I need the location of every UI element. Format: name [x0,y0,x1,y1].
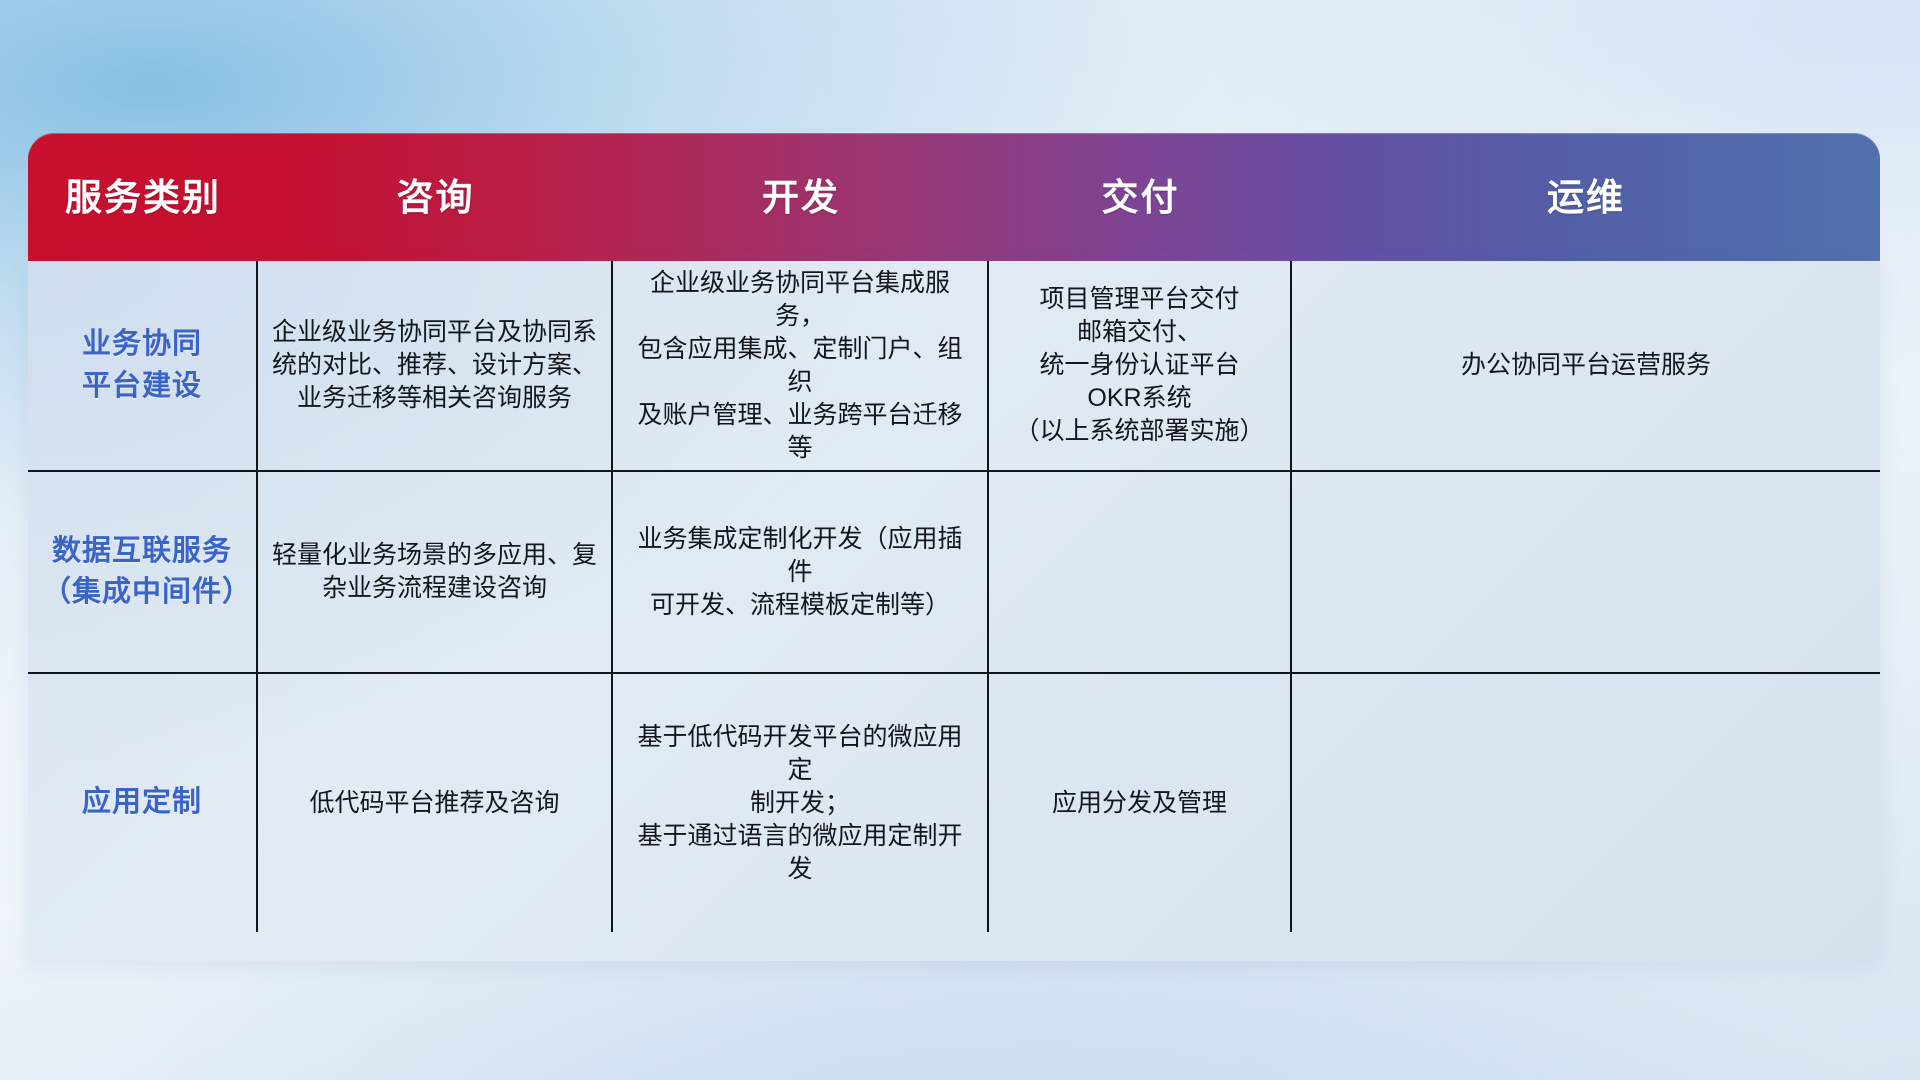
table-row: 业务协同 平台建设 企业级业务协同平台及协同系 统的对比、推荐、设计方案、 业务… [28,261,1880,472]
table-body: 业务协同 平台建设 企业级业务协同平台及协同系 统的对比、推荐、设计方案、 业务… [28,261,1880,961]
cell-development: 业务集成定制化开发（应用插件 可开发、流程模板定制等） [613,472,989,672]
slide-canvas: 服务类别 咨询 开发 交付 运维 业务协同 平台建设 企业级业务协同平台及协同系… [0,0,1920,1080]
table-header-row: 服务类别 咨询 开发 交付 运维 [28,133,1880,261]
cell-operations [1292,472,1880,672]
cell-delivery: 项目管理平台交付 邮箱交付、 统一身份认证平台 OKR系统 （以上系统部署实施） [989,261,1292,470]
cell-category: 应用定制 [28,674,258,932]
cell-delivery [989,472,1292,672]
cell-category: 业务协同 平台建设 [28,261,258,470]
column-header-delivery: 交付 [989,179,1292,216]
cell-operations: 办公协同平台运营服务 [1292,261,1880,470]
column-header-category: 服务类别 [28,179,258,216]
service-matrix-table: 服务类别 咨询 开发 交付 运维 业务协同 平台建设 企业级业务协同平台及协同系… [28,133,1880,961]
cell-consulting: 低代码平台推荐及咨询 [258,674,613,932]
column-header-consulting: 咨询 [258,179,613,216]
cell-consulting: 轻量化业务场景的多应用、复 杂业务流程建设咨询 [258,472,613,672]
cell-category: 数据互联服务 （集成中间件） [28,472,258,672]
table-row: 数据互联服务 （集成中间件） 轻量化业务场景的多应用、复 杂业务流程建设咨询 业… [28,472,1880,674]
cell-development: 基于低代码开发平台的微应用定 制开发； 基于通过语言的微应用定制开发 [613,674,989,932]
cell-delivery: 应用分发及管理 [989,674,1292,932]
column-header-operations: 运维 [1292,179,1880,216]
column-header-development: 开发 [613,179,989,216]
cell-development: 企业级业务协同平台集成服务， 包含应用集成、定制门户、组织 及账户管理、业务跨平… [613,261,989,470]
cell-operations [1292,674,1880,932]
cell-consulting: 企业级业务协同平台及协同系 统的对比、推荐、设计方案、 业务迁移等相关咨询服务 [258,261,613,470]
table-row: 应用定制 低代码平台推荐及咨询 基于低代码开发平台的微应用定 制开发； 基于通过… [28,674,1880,932]
